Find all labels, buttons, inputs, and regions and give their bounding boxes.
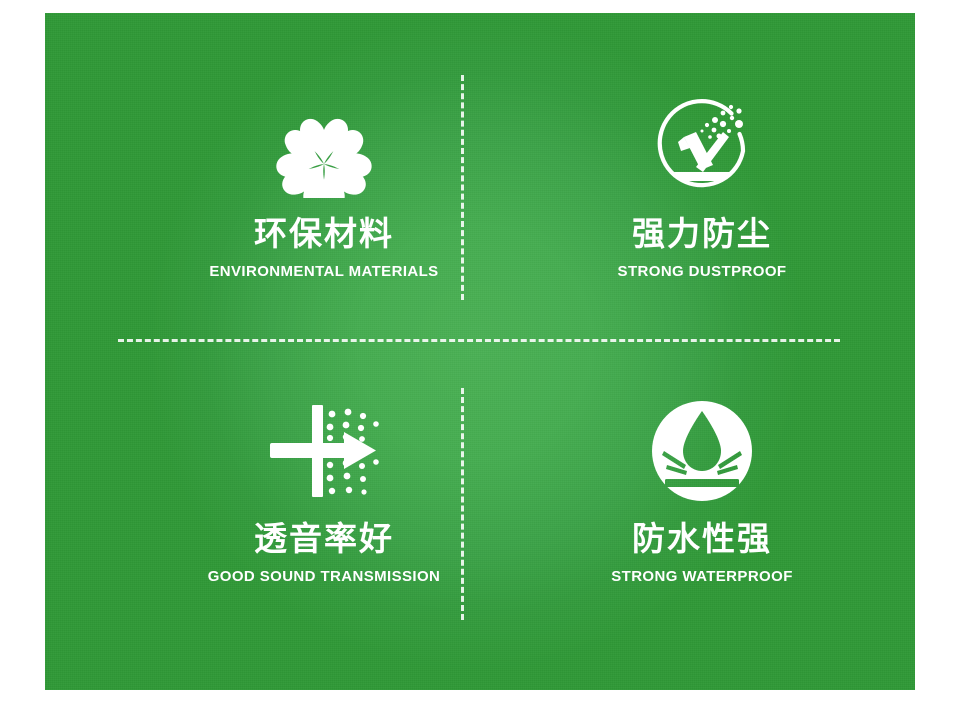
feature-title: 防水性强 — [517, 518, 887, 559]
feature-subtitle: GOOD SOUND TRANSMISSION — [139, 568, 509, 585]
waterproof-droplet-icon — [517, 390, 887, 512]
feature-title: 强力防尘 — [517, 213, 887, 254]
sound-transmission-arrow-icon — [139, 390, 509, 512]
feature-card-environmental-materials: 环保材料 ENVIRONMENTAL MATERIALS — [139, 85, 509, 280]
feature-subtitle: STRONG DUSTPROOF — [517, 263, 887, 280]
feature-subtitle: STRONG WATERPROOF — [517, 568, 887, 585]
divider-horizontal — [118, 339, 840, 342]
feature-title: 透音率好 — [139, 518, 509, 559]
feature-card-strong-waterproof: 防水性强 STRONG WATERPROOF — [517, 390, 887, 585]
feature-subtitle: ENVIRONMENTAL MATERIALS — [139, 263, 509, 280]
flower-five-petal-icon — [139, 85, 509, 207]
feature-title: 环保材料 — [139, 213, 509, 254]
feature-panel: 环保材料 ENVIRONMENTAL MATERIALS — [45, 13, 915, 690]
feature-card-good-sound-transmission: 透音率好 GOOD SOUND TRANSMISSION — [139, 390, 509, 585]
feature-card-strong-dustproof: 强力防尘 STRONG DUSTPROOF — [517, 85, 887, 280]
dustproof-circle-icon — [517, 85, 887, 207]
